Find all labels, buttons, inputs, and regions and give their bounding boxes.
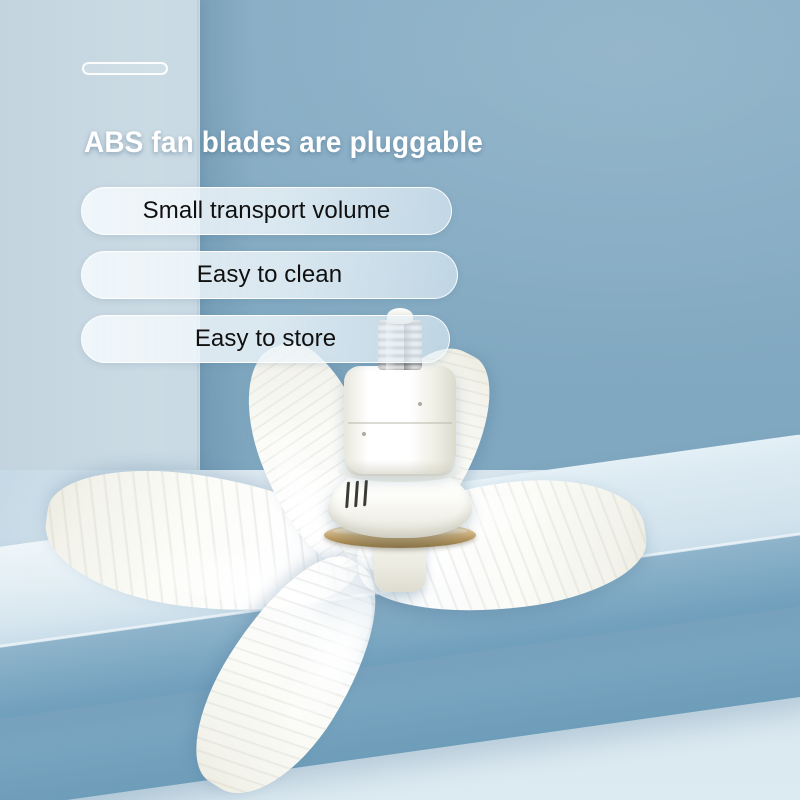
feature-chip-label: Small transport volume [143,197,391,225]
product-banner: ABS fan blades are pluggable Small trans… [0,0,800,800]
feature-chip-label: Easy to store [195,325,336,353]
body-screw-dot [418,402,422,406]
feature-chip-label: Easy to clean [197,261,342,289]
feature-chip-easy-to-clean[interactable]: Easy to clean [81,251,458,299]
feature-chip-list: Small transport volume Easy to clean Eas… [81,187,458,363]
motor-body [344,366,456,474]
feature-chip-small-transport-volume[interactable]: Small transport volume [81,187,452,235]
page-title: ABS fan blades are pluggable [84,126,679,160]
feature-chip-easy-to-store[interactable]: Easy to store [81,315,450,363]
body-seam [348,422,451,424]
vent-slots-icon [345,478,387,508]
body-screw-dot [362,432,366,436]
decorative-accent-bar [82,62,168,75]
